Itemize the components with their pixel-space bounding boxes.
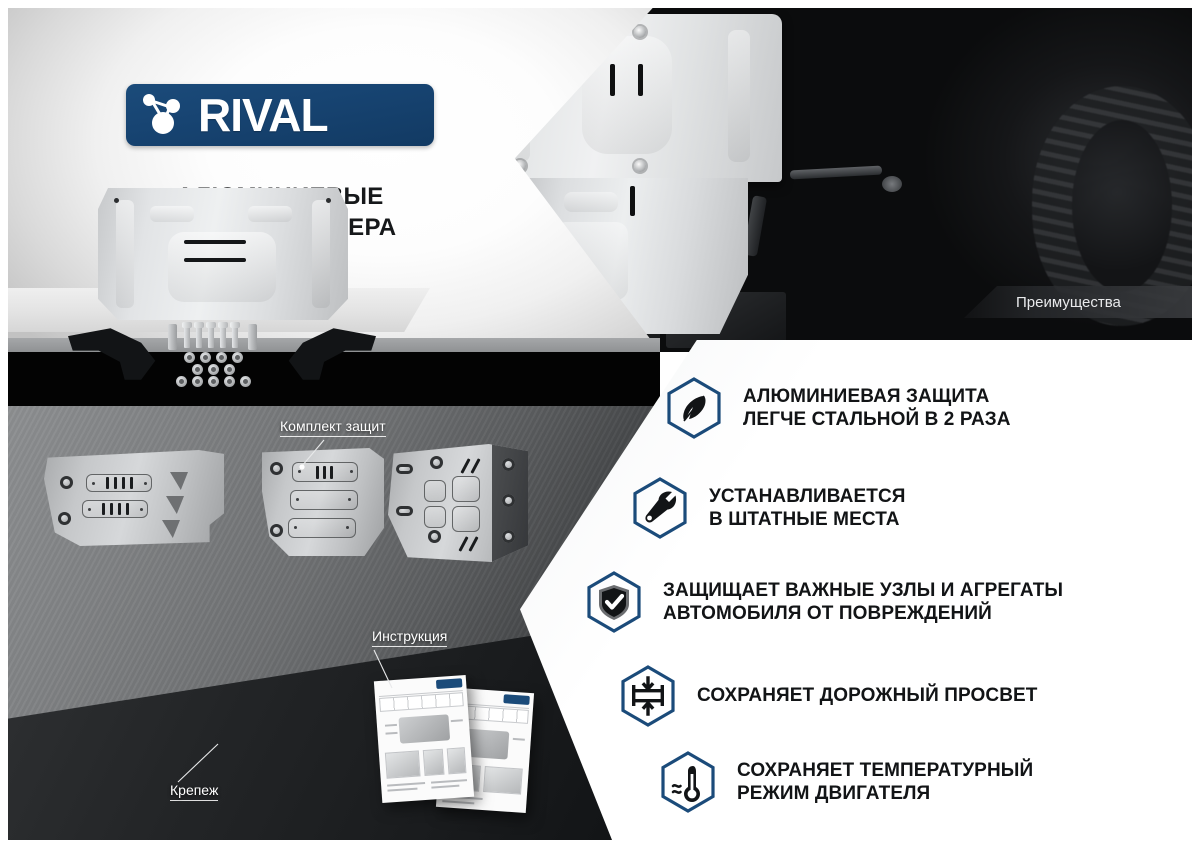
advantage-text-weight: АЛЮМИНИЕВАЯ ЗАЩИТА ЛЕГЧЕ СТАЛЬНОЙ В 2 РА…: [743, 385, 1011, 431]
plate-vent-slot: [470, 458, 480, 474]
advantage-item-clearance: СОХРАНЯЕТ ДОРОЖНЫЙ ПРОСВЕТ: [619, 664, 1038, 728]
plate-side-flange: [492, 444, 528, 562]
washer-icon: [224, 376, 235, 387]
skid-rib: [564, 192, 618, 212]
ball-joint-icon: [882, 176, 902, 192]
sheet-leader-line: [385, 724, 397, 726]
plate-notch: [162, 520, 180, 538]
rival-logo-text: RIVAL: [198, 92, 328, 138]
plate-vent-slot: [102, 503, 105, 515]
sheet-rival-logo: [503, 694, 530, 705]
washer-icon: [240, 376, 251, 387]
plate-dot: [346, 526, 349, 529]
sheet-text-line: [431, 785, 459, 788]
sheet-leader-line: [513, 738, 525, 740]
sheet-leader-line: [385, 732, 397, 734]
callout-leader-line: [176, 740, 236, 784]
molecule-icon: [140, 92, 194, 138]
plate-vent-slot: [458, 536, 468, 552]
callout-leader-line: [284, 440, 344, 474]
callout-instruction: Инструкция: [372, 628, 447, 647]
plate-pad: [86, 474, 152, 492]
sheet-leader-line: [451, 719, 463, 721]
skid-plate-3: [388, 444, 528, 562]
plate-mount-eye: [502, 494, 515, 507]
feather-icon: [665, 376, 723, 440]
plate-mount-eye: [270, 462, 283, 475]
skid-slot: [610, 64, 615, 96]
sheet-photo-box: [423, 749, 445, 776]
advantage-text-fitment: УСТАНАВЛИВАЕТСЯ В ШТАТНЫЕ МЕСТА: [709, 485, 906, 531]
bolt-icon: [208, 326, 214, 348]
plate-vent-slot: [118, 503, 121, 515]
advantage-text-clearance: СОХРАНЯЕТ ДОРОЖНЫЙ ПРОСВЕТ: [697, 684, 1038, 707]
sheet-photo-box: [385, 750, 421, 778]
thermometer-icon: [659, 750, 717, 814]
sheet-text-line: [431, 779, 467, 783]
plate-dot: [350, 470, 353, 473]
fastener-strip: [248, 324, 257, 350]
plate-notch: [170, 472, 188, 490]
rival-logo[interactable]: RIVAL: [126, 84, 434, 146]
plate-dot: [140, 508, 143, 511]
plate-ridge: [116, 200, 134, 308]
plate-vent-slot: [110, 503, 113, 515]
bolt-icon: [196, 326, 202, 348]
plate-ridge: [312, 200, 330, 308]
plate-pad: [424, 480, 446, 502]
plate-dot: [326, 198, 331, 203]
washer-icon: [192, 364, 203, 375]
plate-dot: [114, 198, 119, 203]
skid-bolt: [634, 160, 646, 172]
plate-dot: [294, 526, 297, 529]
plate-vent-slot: [122, 477, 125, 489]
plate-vent-slot: [184, 258, 246, 262]
advantage-item-protection: ЗАЩИЩАЕТ ВАЖНЫЕ УЗЛЫ И АГРЕГАТЫ АВТОМОБИ…: [585, 570, 1063, 634]
skid-bolt: [634, 26, 646, 38]
wrench-icon: [631, 476, 689, 540]
skid-slot: [630, 186, 635, 216]
advantages-list: АЛЮМИНИЕВАЯ ЗАЩИТА ЛЕГЧЕ СТАЛЬНОЙ В 2 РА…: [655, 358, 1195, 838]
plate-notch: [166, 496, 184, 514]
washer-icon: [208, 364, 219, 375]
sheet-text-line: [387, 782, 425, 786]
sheet-text-line: [442, 800, 474, 804]
black-divider-band: [0, 352, 660, 406]
callout-leader-line: [370, 650, 420, 694]
plate-dot: [348, 498, 351, 501]
skid-plate-large: [98, 188, 348, 320]
plate-ridge: [248, 206, 292, 222]
instruction-sheet-1: [374, 675, 474, 803]
plate-mount-eye: [396, 506, 413, 516]
advantage-text-temperature: СОХРАНЯЕТ ТЕМПЕРАТУРНЫЙ РЕЖИМ ДВИГАТЕЛЯ: [737, 759, 1033, 805]
skid-rib: [728, 30, 750, 162]
plate-mount-eye: [430, 456, 443, 469]
advantage-item-fitment: УСТАНАВЛИВАЕТСЯ В ШТАТНЫЕ МЕСТА: [631, 476, 906, 540]
skid-slot: [638, 64, 643, 96]
washer-icon: [192, 376, 203, 387]
plate-dot: [296, 498, 299, 501]
sheet-figure: [398, 714, 450, 743]
plate-mount-eye: [428, 530, 441, 543]
plate-mount-eye: [270, 524, 283, 537]
plate-vent-slot: [184, 240, 246, 244]
washer-icon: [176, 376, 187, 387]
washer-icon: [224, 364, 235, 375]
callout-protection-set: Комплект защит: [280, 418, 386, 437]
fastener-strip: [168, 324, 177, 350]
promo-poster: Преимущества RIVAL АЛЮМИНИЕВЫЕ ЗАЩИТЫ КА…: [0, 0, 1200, 848]
plate-vent-slot: [468, 536, 478, 552]
plate-pad: [82, 500, 148, 518]
washer-icon: [232, 352, 243, 363]
plate-pad: [424, 506, 446, 528]
sheet-text-line: [387, 788, 417, 792]
plate-dot: [144, 482, 147, 485]
plate-vent-slot: [460, 458, 470, 474]
plate-vent-slot: [106, 477, 109, 489]
washer-icon: [184, 352, 195, 363]
advantages-tab: Преимущества: [964, 286, 1200, 318]
callout-fasteners: Крепеж: [170, 782, 218, 801]
sheet-photo-box: [483, 766, 523, 795]
advantage-text-protection: ЗАЩИЩАЕТ ВАЖНЫЕ УЗЛЫ И АГРЕГАТЫ АВТОМОБИ…: [663, 579, 1063, 625]
bolt-icon: [220, 326, 226, 348]
plate-dot: [88, 508, 91, 511]
callout-fasteners-label: Крепеж: [170, 782, 218, 801]
advantages-tab-label: Преимущества: [1016, 294, 1121, 311]
advantage-item-weight: АЛЮМИНИЕВАЯ ЗАЩИТА ЛЕГЧЕ СТАЛЬНОЙ В 2 РА…: [665, 376, 1011, 440]
fastener-hardware-group: [168, 322, 260, 382]
plate-ridge: [150, 206, 194, 222]
plate-vent-slot: [114, 477, 117, 489]
sheet-rival-logo: [436, 678, 463, 689]
plate-pad: [452, 506, 480, 532]
plate-dot: [92, 482, 95, 485]
washer-icon: [208, 376, 219, 387]
ground-clearance-icon: [619, 664, 677, 728]
plate-mount-eye: [60, 476, 73, 489]
callout-instruction-label: Инструкция: [372, 628, 447, 647]
plate-vent-slot: [130, 477, 133, 489]
plate-pad: [452, 476, 480, 502]
shield-check-icon: [585, 570, 643, 634]
callout-protection-set-label: Комплект защит: [280, 418, 386, 437]
advantage-item-temperature: СОХРАНЯЕТ ТЕМПЕРАТУРНЫЙ РЕЖИМ ДВИГАТЕЛЯ: [659, 750, 1033, 814]
plate-mount-eye: [396, 464, 413, 474]
bolt-icon: [184, 326, 190, 348]
plate-vent-slot: [126, 503, 129, 515]
plate-mount-eye: [502, 458, 515, 471]
washer-icon: [216, 352, 227, 363]
skid-plate-1: [44, 450, 224, 546]
plate-mount-eye: [58, 512, 71, 525]
bolt-icon: [232, 326, 238, 348]
sheet-photo-box: [447, 747, 467, 774]
plate-mount-eye: [502, 530, 515, 543]
washer-icon: [200, 352, 211, 363]
